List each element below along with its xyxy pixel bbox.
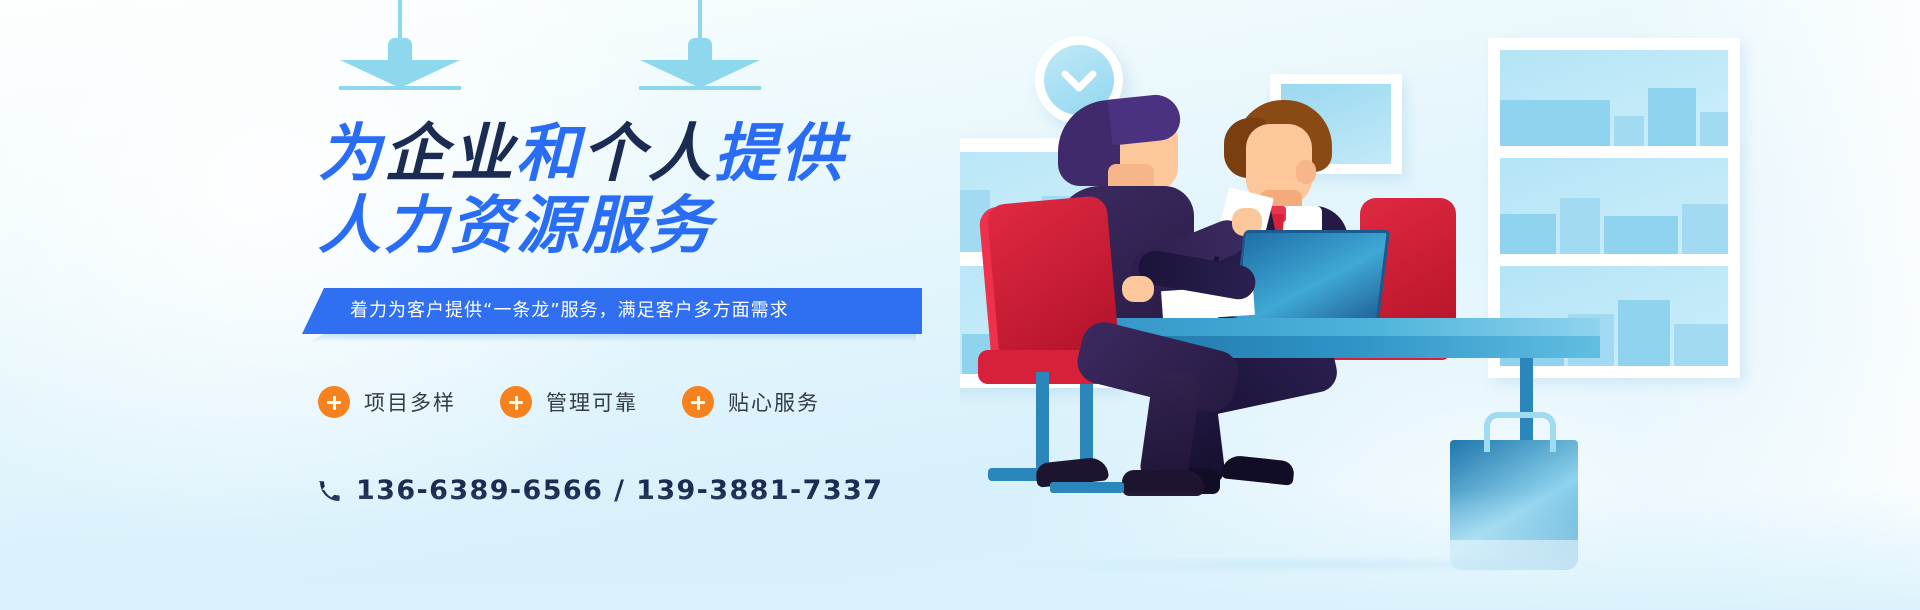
- laptop-screen-icon: [1232, 230, 1390, 328]
- headline-line-2: 人力资源服务: [318, 190, 938, 262]
- feature-item-2[interactable]: 管理可靠: [500, 386, 638, 418]
- feature-item-3[interactable]: 贴心服务: [682, 386, 820, 418]
- plus-icon: [500, 386, 532, 418]
- person-right-hand: [1122, 276, 1154, 302]
- person-right-shoe-back: [1221, 454, 1295, 485]
- person-right-ear: [1296, 160, 1316, 184]
- headline-part-5: 提供: [714, 117, 846, 190]
- feature-label-1: 项目多样: [364, 387, 456, 417]
- bottom-fade: [0, 490, 1920, 610]
- headline: 为企业和个人提供 人力资源服务: [318, 118, 938, 262]
- office-chair-left-stem: [1036, 372, 1049, 472]
- feature-list: 项目多样 管理可靠 贴心服务: [318, 386, 820, 418]
- feature-item-1[interactable]: 项目多样: [318, 386, 456, 418]
- feature-label-2: 管理可靠: [546, 387, 638, 417]
- feature-label-3: 贴心服务: [728, 387, 820, 417]
- headline-part-2: 企业: [384, 117, 516, 190]
- plus-icon: [682, 386, 714, 418]
- headline-part-4: 个人: [582, 117, 714, 190]
- subtitle-text: 着力为客户提供“一条龙”服务，满足客户多方面需求: [350, 288, 789, 334]
- headline-part-3: 和: [516, 117, 582, 190]
- subtitle-ribbon: 着力为客户提供“一条龙”服务，满足客户多方面需求: [302, 288, 922, 334]
- plus-icon: [318, 386, 350, 418]
- headline-part-1: 为: [318, 117, 384, 190]
- hero-banner: 为企业和个人提供 人力资源服务 着力为客户提供“一条龙”服务，满足客户多方面需求…: [0, 0, 1920, 610]
